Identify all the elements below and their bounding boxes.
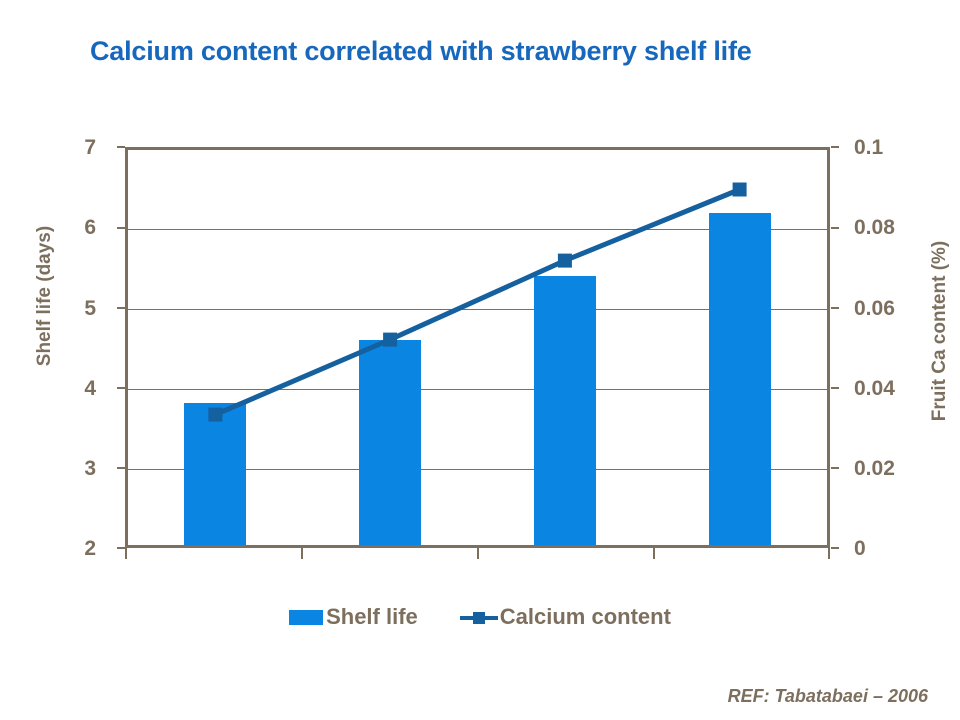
right-axis-tick-mark (831, 307, 839, 309)
right-axis-tick-label: 0.04 (854, 378, 934, 399)
right-axis-tick-label: 0.08 (854, 217, 934, 238)
bar-swatch-icon (289, 610, 323, 625)
left-axis-tick-mark (117, 146, 125, 148)
left-axis-tick-mark (117, 307, 125, 309)
x-axis-tick-mark (477, 548, 479, 559)
legend-label: Shelf life (326, 604, 418, 630)
left-axis-tick-mark (117, 547, 125, 549)
x-axis-tick-mark (125, 548, 127, 559)
right-axis-tick-mark (831, 387, 839, 389)
x-axis-tick-group (125, 548, 830, 560)
left-axis-tick-label: 4 (36, 378, 96, 399)
right-axis-tick-mark (831, 467, 839, 469)
bar-shelf-life[interactable] (184, 403, 246, 545)
right-axis-tick-label: 0 (854, 538, 934, 559)
left-axis-tick-label: 5 (36, 298, 96, 319)
legend-label: Calcium content (500, 604, 671, 630)
right-axis-tick-label: 0.1 (854, 137, 934, 158)
right-axis-tick-label: 0.06 (854, 298, 934, 319)
left-axis-tick-label: 2 (36, 538, 96, 559)
left-axis-tick-mark (117, 227, 125, 229)
chart-title: Calcium content correlated with strawber… (90, 36, 930, 67)
left-axis-tick-mark (117, 467, 125, 469)
right-axis-tick-mark (831, 146, 839, 148)
left-axis-tick-mark (117, 387, 125, 389)
left-axis-tick-label: 7 (36, 137, 96, 158)
left-axis-tick-label: 6 (36, 217, 96, 238)
right-axis-tick-mark (831, 227, 839, 229)
reference-citation: REF: Tabatabaei – 2006 (728, 686, 928, 707)
x-axis-tick-mark (653, 548, 655, 559)
legend-item-shelf-life[interactable]: Shelf life (289, 604, 418, 630)
plot-area (125, 147, 830, 548)
left-axis-tick-label: 3 (36, 458, 96, 479)
x-axis-tick-mark (828, 548, 830, 559)
right-axis-tick-mark (831, 547, 839, 549)
bar-shelf-life[interactable] (534, 276, 596, 545)
line-marker-swatch-icon (460, 610, 498, 625)
chart-legend: Shelf life Calcium content (0, 604, 960, 630)
bar-shelf-life[interactable] (359, 340, 421, 545)
right-axis-tick-label: 0.02 (854, 458, 934, 479)
bar-shelf-life[interactable] (709, 213, 771, 545)
x-axis-tick-mark (301, 548, 303, 559)
legend-item-calcium-content[interactable]: Calcium content (460, 604, 671, 630)
